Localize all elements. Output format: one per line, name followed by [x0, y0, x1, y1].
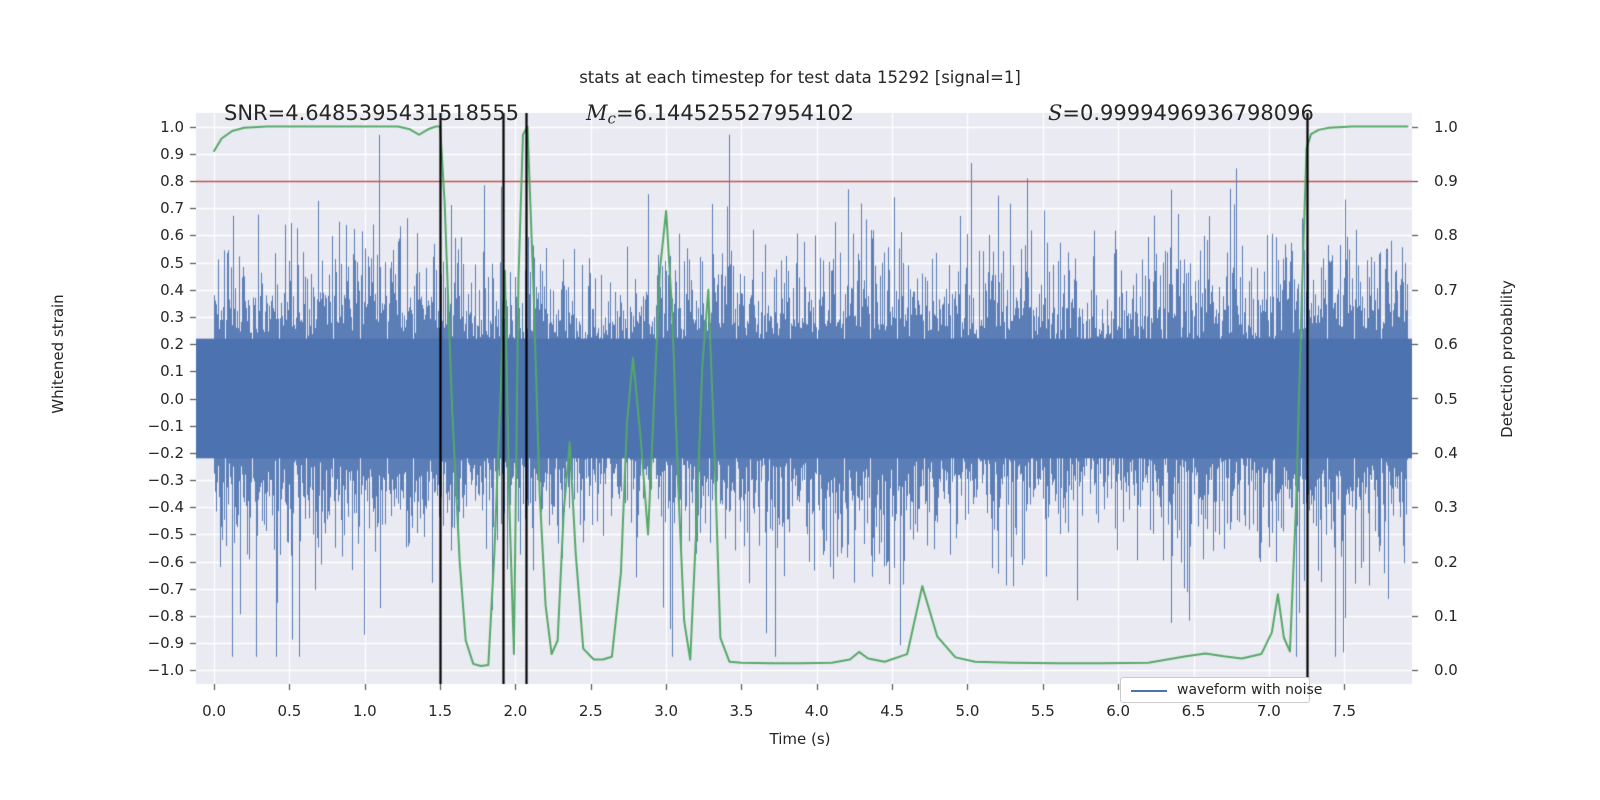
y-tick-right-6: 0.4: [1434, 444, 1494, 462]
y-tick-right-10: 0.0: [1434, 661, 1494, 679]
annotation-row: SNR=4.6485395431518555 Mc=6.144525527954…: [196, 101, 1412, 129]
y-tick-left-19: −0.9: [124, 634, 184, 652]
y-tick-right-3: 0.7: [1434, 281, 1494, 299]
y-tick-left-0: 1.0: [124, 118, 184, 136]
y-tick-right-0: 1.0: [1434, 118, 1494, 136]
x-tick-10: 5.0: [932, 702, 1002, 720]
x-tick-3: 1.5: [405, 702, 475, 720]
y-tick-right-8: 0.2: [1434, 553, 1494, 571]
annotation-detection-statistic: S=0.9999496936798096: [1048, 101, 1314, 125]
x-tick-8: 4.0: [782, 702, 852, 720]
x-tick-7: 3.5: [706, 702, 776, 720]
x-tick-12: 6.0: [1083, 702, 1153, 720]
y-axis-left-label: Whitened strain: [49, 244, 67, 464]
y-tick-right-2: 0.8: [1434, 226, 1494, 244]
annotation-detection-statistic-eq: =: [1062, 101, 1080, 125]
x-tick-6: 3.0: [631, 702, 701, 720]
figure-container: stats at each timestep for test data 152…: [0, 0, 1600, 800]
annotation-snr-text: SNR=4.6485395431518555: [224, 101, 519, 125]
legend-label-waveform: waveform with noise: [1177, 682, 1322, 698]
x-axis-label: Time (s): [0, 730, 1600, 748]
y-tick-left-13: −0.3: [124, 471, 184, 489]
x-tick-13: 6.5: [1159, 702, 1229, 720]
y-tick-left-18: −0.8: [124, 607, 184, 625]
legend-swatch-waveform: [1131, 690, 1167, 692]
y-tick-left-1: 0.9: [124, 145, 184, 163]
y-tick-left-8: 0.2: [124, 335, 184, 353]
y-tick-left-3: 0.7: [124, 199, 184, 217]
y-tick-right-4: 0.6: [1434, 335, 1494, 353]
annotation-chirp-mass-number: 6.144525527954102: [634, 101, 854, 125]
y-tick-right-5: 0.5: [1434, 390, 1494, 408]
annotation-snr: SNR=4.6485395431518555: [224, 101, 519, 125]
x-tick-9: 4.5: [857, 702, 927, 720]
y-tick-left-5: 0.5: [124, 254, 184, 272]
y-tick-left-11: −0.1: [124, 417, 184, 435]
x-tick-4: 2.0: [480, 702, 550, 720]
y-tick-left-7: 0.3: [124, 308, 184, 326]
x-tick-1: 0.5: [254, 702, 324, 720]
y-tick-left-6: 0.4: [124, 281, 184, 299]
x-tick-2: 1.0: [330, 702, 400, 720]
x-tick-11: 5.5: [1008, 702, 1078, 720]
y-tick-right-7: 0.3: [1434, 498, 1494, 516]
y-tick-left-15: −0.5: [124, 525, 184, 543]
y-tick-left-17: −0.7: [124, 580, 184, 598]
y-axis-right-label: Detection probability: [1498, 244, 1516, 474]
y-tick-left-16: −0.6: [124, 553, 184, 571]
y-tick-right-1: 0.9: [1434, 172, 1494, 190]
chart-title: stats at each timestep for test data 152…: [0, 68, 1600, 87]
x-tick-0: 0.0: [179, 702, 249, 720]
chirp-mass-symbol: M: [586, 101, 608, 125]
y-tick-left-20: −1.0: [124, 661, 184, 679]
y-tick-left-9: 0.1: [124, 362, 184, 380]
x-tick-15: 7.5: [1309, 702, 1379, 720]
detection-statistic-symbol: S: [1048, 101, 1062, 125]
y-tick-right-9: 0.1: [1434, 607, 1494, 625]
legend[interactable]: waveform with noise: [1120, 677, 1310, 703]
x-tick-5: 2.5: [556, 702, 626, 720]
y-tick-left-10: 0.0: [124, 390, 184, 408]
annotation-chirp-mass-value: =: [616, 101, 634, 125]
annotation-chirp-mass: Mc=6.144525527954102: [586, 101, 854, 127]
y-tick-left-2: 0.8: [124, 172, 184, 190]
y-tick-left-14: −0.4: [124, 498, 184, 516]
y-tick-left-12: −0.2: [124, 444, 184, 462]
annotation-detection-statistic-number: 0.9999496936798096: [1080, 101, 1314, 125]
chirp-mass-subscript: c: [608, 109, 616, 127]
x-tick-14: 7.0: [1234, 702, 1304, 720]
y-tick-left-4: 0.6: [124, 226, 184, 244]
